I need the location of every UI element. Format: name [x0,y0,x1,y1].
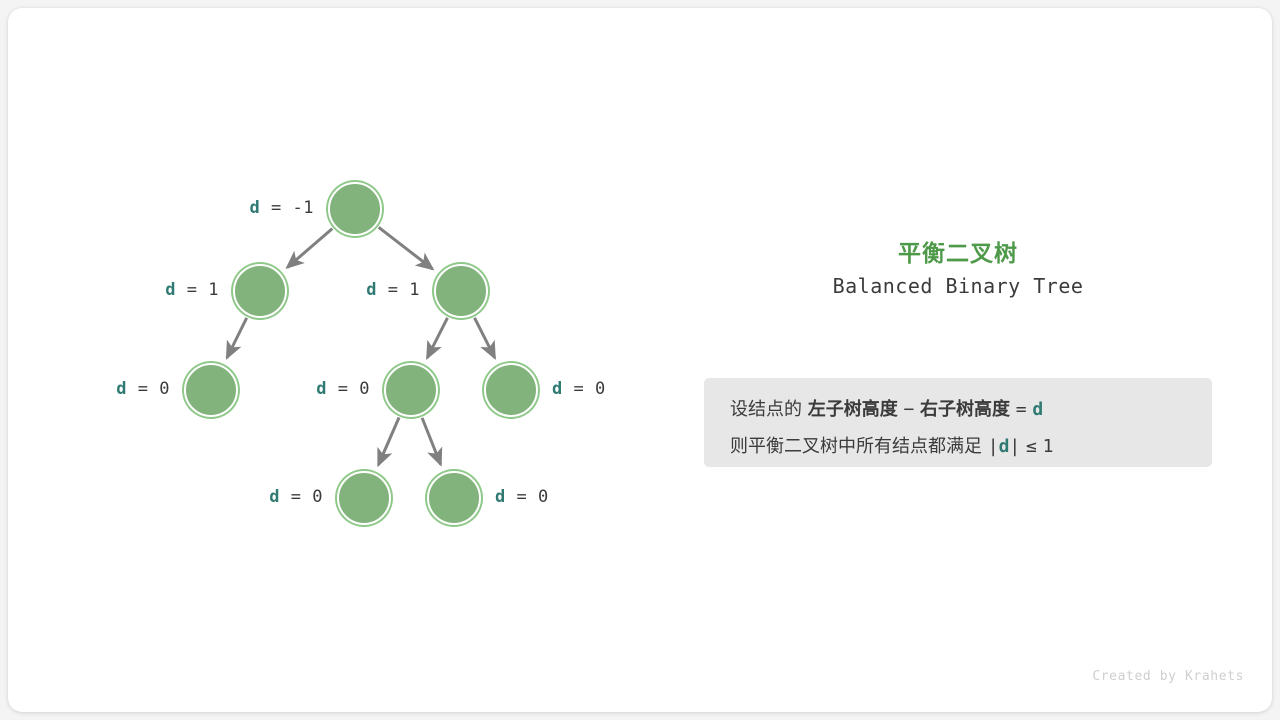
tree-edge [287,229,332,268]
tree-node-n-l[interactable] [233,264,287,318]
node-label-equals: = [260,198,292,218]
minus-sign: − [903,399,914,420]
less-equal-sign: ≤ [1026,436,1037,457]
tree-edge [475,318,495,358]
variable-d: d [1032,399,1043,420]
node-label-value: 0 [359,379,370,399]
node-label-variable: d [316,379,327,399]
node-label-value: 1 [208,280,219,300]
equals-sign: = [1016,399,1027,420]
node-label-n-rr: d = 0 [552,379,606,399]
node-label-variable: d [250,198,261,218]
page-root: d = -1d = 1d = 1d = 0d = 0d = 0d = 0d = … [0,0,1280,720]
node-label-n-rll: d = 0 [269,487,323,507]
bound-value-one: 1 [1043,436,1054,457]
tree-node-root[interactable] [328,182,382,236]
tree-edge [379,227,433,269]
node-label-variable: d [116,379,127,399]
definition-line-2: 则平衡二叉树中所有结点都满足 |d| ≤ 1 [730,432,1053,458]
node-label-n-ll: d = 0 [116,379,170,399]
page-subtitle: Balanced Binary Tree [668,274,1248,298]
node-label-equals: = [176,280,208,300]
node-label-value: 0 [159,379,170,399]
node-label-n-rlr: d = 0 [495,487,549,507]
node-label-value: 0 [595,379,606,399]
page-title: 平衡二叉树 [668,234,1248,268]
definition-box: 设结点的 左子树高度 − 右子树高度 = d 则平衡二叉树中所有结点都满足 |d… [704,378,1212,467]
node-label-equals: = [280,487,312,507]
variable-d-abs: d [999,436,1010,457]
node-label-variable: d [366,280,377,300]
definition-plain-2: 则平衡二叉树中所有结点都满足 [730,436,982,457]
abs-bar-close: | [1009,436,1020,457]
node-label-value: -1 [293,198,314,218]
tree-node-n-ll[interactable] [184,363,238,417]
tree-edge [422,418,441,465]
abs-bar-open: | [988,436,999,457]
node-label-variable: d [165,280,176,300]
node-label-equals: = [563,379,595,399]
node-label-value: 0 [538,487,549,507]
definition-line-1: 设结点的 左子树高度 − 右子树高度 = d [730,395,1043,421]
node-label-equals: = [127,379,159,399]
node-label-equals: = [506,487,538,507]
definition-plain-1: 设结点的 [730,399,802,420]
tree-node-n-r[interactable] [434,264,488,318]
node-label-n-r: d = 1 [366,280,420,300]
node-label-value: 0 [312,487,323,507]
tree-node-n-rlr[interactable] [427,471,481,525]
node-label-n-l: d = 1 [165,280,219,300]
node-label-equals: = [377,280,409,300]
tree-edge [378,418,399,465]
tree-node-n-rll[interactable] [337,471,391,525]
node-label-equals: = [327,379,359,399]
node-label-root: d = -1 [250,198,314,218]
tree-edge [427,318,447,358]
tree-node-n-rr[interactable] [484,363,538,417]
tree-edge [227,318,247,358]
content-card: d = -1d = 1d = 1d = 0d = 0d = 0d = 0d = … [8,8,1272,712]
node-label-variable: d [495,487,506,507]
credit-text: Created by Krahets [1092,669,1244,684]
tree-edges-layer [8,8,668,712]
tree-node-n-rl[interactable] [384,363,438,417]
node-label-value: 1 [409,280,420,300]
definition-bold-left-height: 左子树高度 [808,399,898,420]
node-label-variable: d [269,487,280,507]
definition-bold-right-height: 右子树高度 [920,399,1010,420]
node-label-variable: d [552,379,563,399]
info-panel: 平衡二叉树 Balanced Binary Tree 设结点的 左子树高度 − … [668,8,1272,712]
binary-tree-diagram: d = -1d = 1d = 1d = 0d = 0d = 0d = 0d = … [8,8,668,712]
node-label-n-rl: d = 0 [316,379,370,399]
